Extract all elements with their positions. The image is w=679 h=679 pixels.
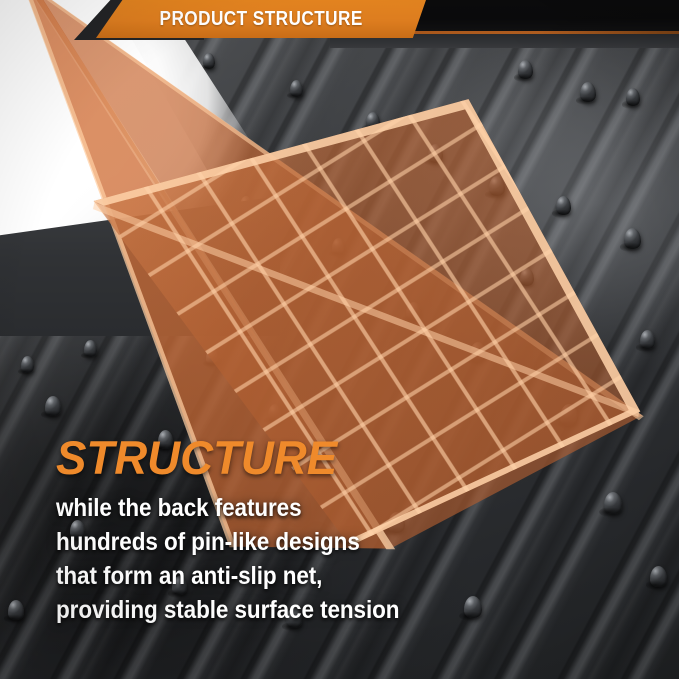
page-title: STRUCTURE (56, 434, 463, 481)
pin-nub (203, 53, 215, 69)
pin-nub (626, 88, 640, 106)
pin-nub (556, 196, 571, 215)
header-banner-label: PRODUCT STRUCTURE (159, 8, 362, 31)
copy-block: STRUCTURE while the back features hundre… (56, 434, 476, 627)
body-line-2: hundreds of pin-like designs (56, 525, 434, 559)
pin-nub (604, 492, 622, 514)
pin-nub (580, 82, 596, 102)
pin-nub (45, 396, 61, 416)
pin-nub (290, 80, 303, 97)
body-line-1: while the back features (56, 491, 434, 525)
body-line-3: that form an anti-slip net, (56, 559, 434, 593)
pin-nub (8, 600, 24, 620)
pin-nub (84, 340, 97, 357)
pin-nub (518, 60, 533, 79)
body-line-4: providing stable surface tension (56, 593, 434, 627)
product-structure-infographic: PRODUCT STRUCTURE STRUCTURE while the ba… (0, 0, 679, 679)
pin-nub (650, 566, 667, 587)
pin-nub (21, 356, 34, 373)
pin-nub (640, 330, 655, 349)
header-banner: PRODUCT STRUCTURE (96, 0, 426, 38)
pin-nub (624, 228, 641, 249)
